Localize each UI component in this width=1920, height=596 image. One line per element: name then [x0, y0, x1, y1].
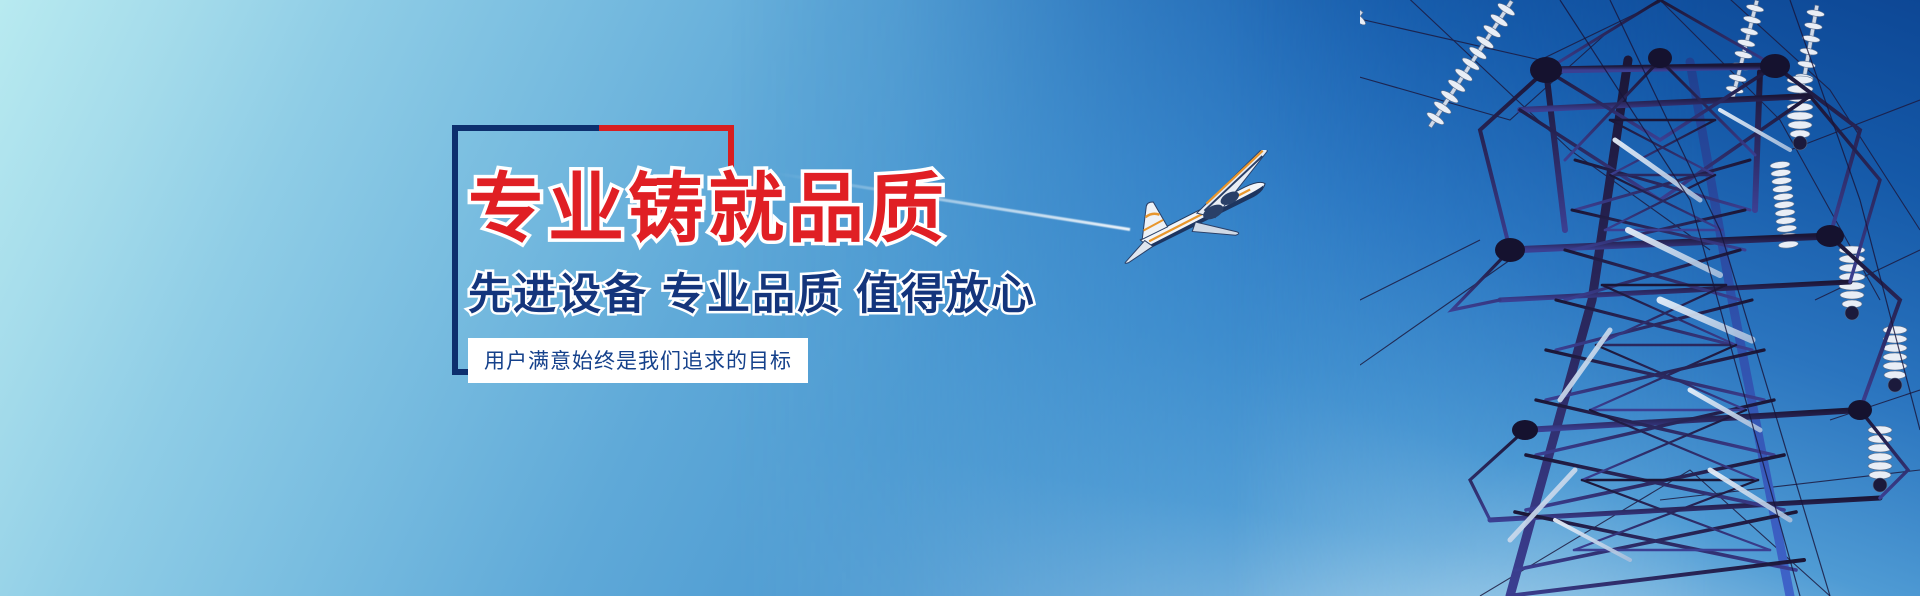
frame-border-top-red — [599, 125, 734, 131]
banner-subline: 先进设备 专业品质 值得放心 — [468, 260, 1468, 322]
banner-copy: 专业铸就品质 先进设备 专业品质 值得放心 用户满意始终是我们追求的目标 — [468, 148, 1468, 383]
banner-tagline: 用户满意始终是我们追求的目标 — [468, 338, 808, 383]
hero-banner: 专业铸就品质 先进设备 专业品质 值得放心 用户满意始终是我们追求的目标 — [0, 0, 1920, 596]
banner-headline: 专业铸就品质 — [468, 148, 1468, 250]
frame-border-left — [452, 125, 458, 375]
frame-border-top-blue — [452, 125, 599, 131]
